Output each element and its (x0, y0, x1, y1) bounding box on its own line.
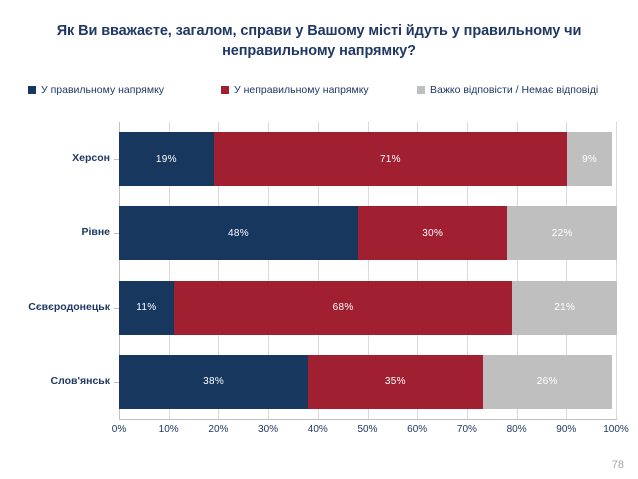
x-tick-label: 50% (357, 424, 377, 435)
category-label: Слов'янськ (0, 376, 110, 387)
bar-segment[interactable]: 11% (119, 281, 174, 335)
x-tick-label: 100% (603, 424, 629, 435)
bar-segment[interactable]: 26% (483, 355, 612, 409)
bar-segment[interactable]: 35% (308, 355, 482, 409)
bar-segment[interactable]: 9% (567, 132, 612, 186)
bar-segment[interactable]: 48% (119, 206, 358, 260)
x-axis-line (119, 419, 617, 420)
bar-segment[interactable]: 22% (507, 206, 617, 260)
x-tick-label: 80% (507, 424, 527, 435)
bar-row: Рівне48%30%22% (119, 206, 617, 260)
bar-segment[interactable]: 21% (512, 281, 617, 335)
bar-row: Херсон19%71%9% (119, 132, 617, 186)
slide: Як Ви вважаєте, загалом, справи у Вашому… (0, 0, 638, 479)
x-tick-label: 10% (159, 424, 179, 435)
bar-segment-label: 68% (333, 302, 354, 313)
category-label: Сєвєродонецьк (0, 302, 110, 313)
legend-label-no-answer: Важко відповісти / Немає відповіді (430, 84, 598, 96)
bar-segment[interactable]: 71% (214, 132, 568, 186)
legend-item-correct-direction[interactable]: У правильному напрямку (28, 84, 164, 96)
bar-segment-label: 11% (136, 302, 156, 313)
category-label: Рівне (0, 227, 110, 238)
legend-label-wrong-direction: У неправильному напрямку (234, 84, 369, 96)
x-tick-label: 60% (407, 424, 427, 435)
x-tick-label: 30% (258, 424, 278, 435)
legend-swatch-no-answer (417, 86, 425, 94)
bar-segment-label: 30% (422, 228, 443, 239)
bar-row: Слов'янськ38%35%26% (119, 355, 617, 409)
bar-segment[interactable]: 68% (174, 281, 513, 335)
x-tick-label: 40% (308, 424, 328, 435)
legend-swatch-wrong-direction (221, 86, 229, 94)
category-label: Херсон (0, 153, 110, 164)
legend-item-no-answer[interactable]: Важко відповісти / Немає відповіді (417, 84, 598, 96)
x-axis: 0%10%20%30%40%50%60%70%80%90%100% (119, 419, 617, 439)
legend-label-correct-direction: У правильному напрямку (41, 84, 164, 96)
bar-segment[interactable]: 30% (358, 206, 507, 260)
x-tick-label: 20% (208, 424, 228, 435)
bar-segment-label: 35% (385, 376, 406, 387)
x-tick-label: 0% (112, 424, 126, 435)
bar-segment[interactable]: 38% (119, 355, 308, 409)
bar-segment-label: 71% (380, 154, 401, 165)
bar-segment-label: 21% (554, 302, 575, 313)
bar-segment-label: 48% (228, 228, 249, 239)
bar-segment-label: 19% (156, 154, 177, 165)
slide-number: 78 (612, 459, 624, 471)
bar-segment-label: 26% (537, 376, 558, 387)
bar-segment-label: 22% (552, 228, 573, 239)
page-title: Як Ви вважаєте, загалом, справи у Вашому… (40, 22, 598, 61)
legend-swatch-correct-direction (28, 86, 36, 94)
chart-legend: У правильному напрямку У неправильному н… (22, 84, 622, 100)
x-tick-label: 90% (556, 424, 576, 435)
bar-segment[interactable]: 19% (119, 132, 214, 186)
legend-item-wrong-direction[interactable]: У неправильному напрямку (221, 84, 369, 96)
x-tick-label: 70% (457, 424, 477, 435)
bar-row: Сєвєродонецьк11%68%21% (119, 281, 617, 335)
bar-segment-label: 9% (582, 154, 597, 165)
plot-area: Херсон19%71%9%Рівне48%30%22%Сєвєродонець… (119, 122, 617, 419)
bar-segment-label: 38% (203, 376, 224, 387)
